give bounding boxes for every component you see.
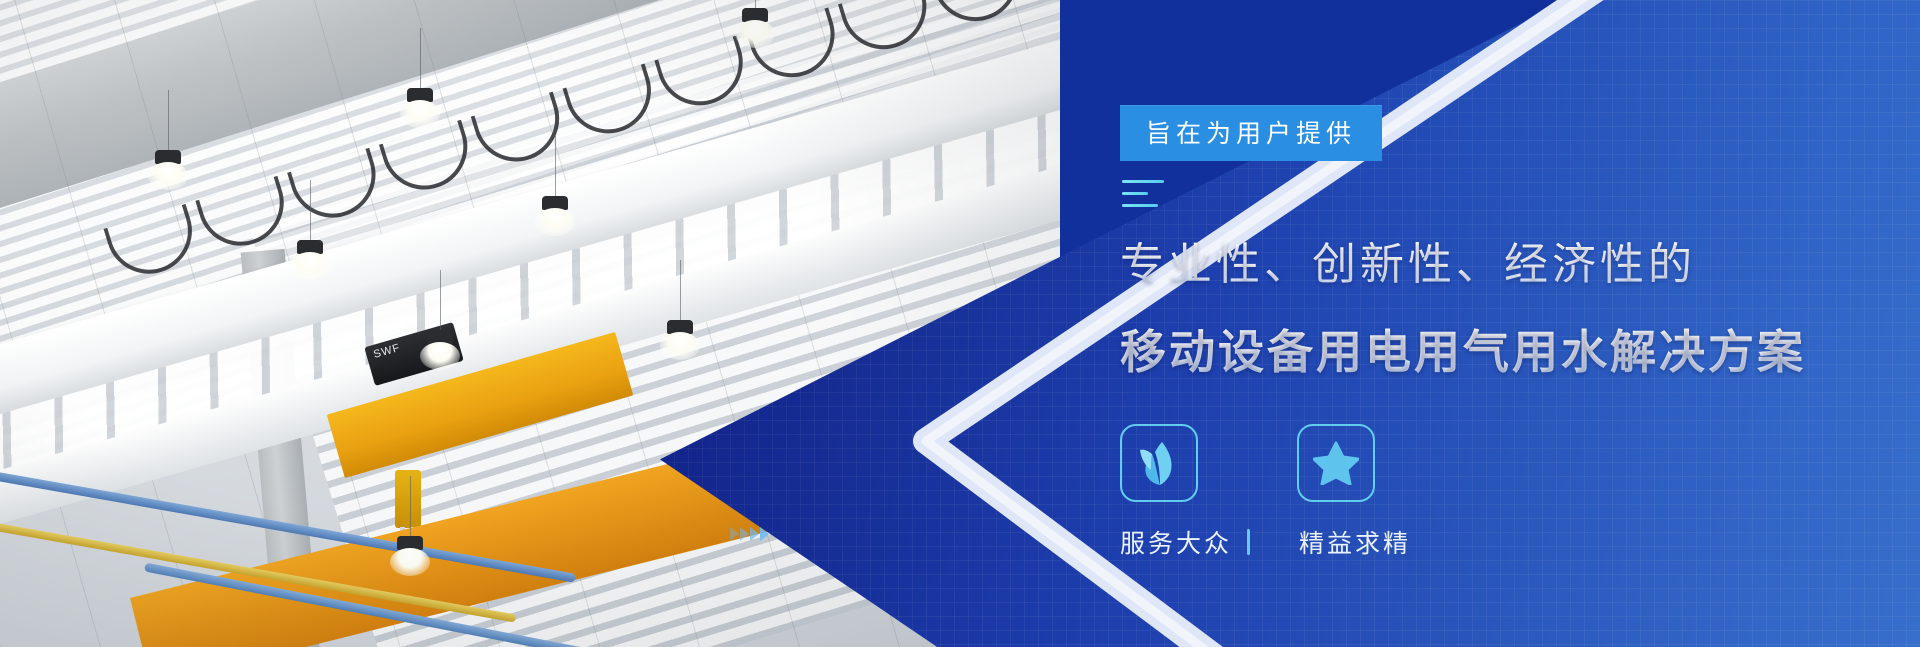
hero-badge: 旨在为用户提供 <box>1120 105 1382 161</box>
hero-banner: 旨在为用户提供 专业性、创新性、经济性的 移动设备用电用气用水解决方案 <box>0 0 1920 647</box>
star-icon <box>1313 441 1359 485</box>
decorative-lines <box>1122 180 1164 216</box>
hero-content: 旨在为用户提供 专业性、创新性、经济性的 移动设备用电用气用水解决方案 <box>1120 0 1920 647</box>
hero-headline-line-1: 专业性、创新性、经济性的 <box>1120 228 1696 292</box>
feature-label-2: 精益求精 <box>1299 524 1377 560</box>
chevron-arrows-icon <box>730 527 769 541</box>
feature-icon-box-2 <box>1297 424 1375 502</box>
decorative-line-3 <box>1122 204 1158 207</box>
hero-headline-line-2: 移动设备用电用气用水解决方案 <box>1120 316 1806 382</box>
decorative-line-1 <box>1122 180 1164 183</box>
feature-icon-box-1 <box>1120 424 1198 502</box>
feature-list: 服务大众 精益求精 <box>1120 424 1377 560</box>
leaf-icon <box>1137 440 1181 486</box>
decorative-line-2 <box>1122 192 1148 195</box>
feature-label-1: 服务大众 <box>1120 524 1198 560</box>
feature-separator <box>1247 529 1250 555</box>
feature-labels: 服务大众 精益求精 <box>1120 524 1377 560</box>
feature-icons <box>1120 424 1377 502</box>
